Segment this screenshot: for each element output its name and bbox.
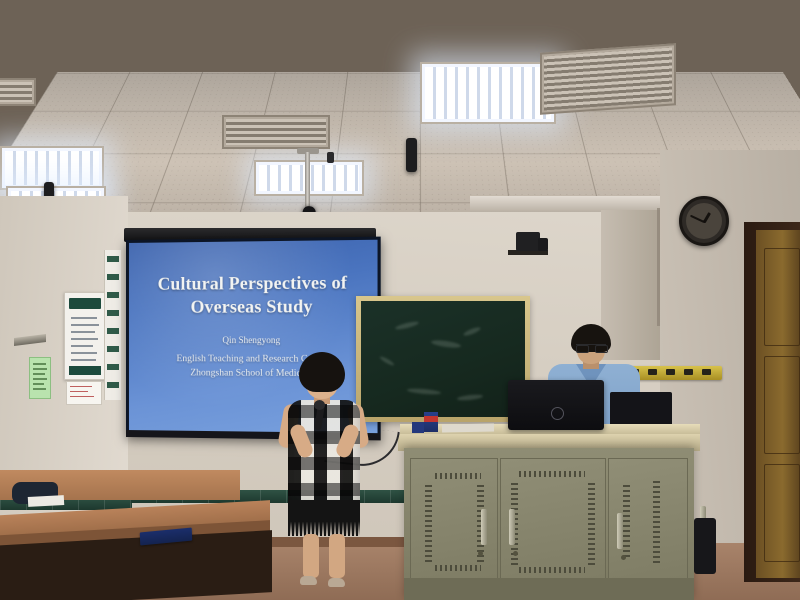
cabinet-door-left[interactable] [410, 458, 498, 586]
cabinet-handle[interactable] [617, 513, 623, 549]
wall-switch-strip [104, 250, 121, 400]
wall-clock [679, 196, 729, 246]
laptop[interactable] [508, 380, 604, 430]
presenter-hair [299, 352, 345, 392]
ceiling-air-vent [540, 43, 676, 115]
ceiling-air-vent [0, 78, 36, 106]
presenter-right-leg [329, 534, 345, 578]
chalkboard-frame [356, 296, 530, 422]
slide-title-line2: Overseas Study [129, 295, 378, 319]
wall-notice-green [29, 357, 51, 399]
chair [694, 518, 716, 574]
presenter-dress-fringe [288, 500, 360, 536]
wall-notice-white [66, 381, 102, 405]
sprinkler-head [327, 152, 334, 163]
presenter-right-shoe [328, 578, 345, 587]
wall-speaker [516, 232, 540, 251]
cabinet-lock[interactable] [478, 551, 483, 556]
projector-mount-pole [305, 152, 310, 214]
loose-papers [28, 495, 64, 507]
chalkboard [361, 301, 525, 417]
notice-board-footer [69, 366, 101, 375]
slide-title: Cultural Perspectives of Overseas Study [129, 271, 378, 319]
desk-box-secondary [412, 422, 424, 433]
desk-box [424, 412, 438, 432]
ceiling-light-fixture [420, 62, 556, 124]
cabinet-door-center[interactable] [500, 458, 606, 586]
lecture-hall-photo: Cultural Perspectives of Overseas Study … [0, 0, 800, 600]
laptop-logo [551, 407, 564, 420]
notice-board [64, 292, 106, 380]
cabinet-lock[interactable] [513, 551, 518, 556]
desk-papers [442, 424, 494, 433]
cabinet-base [404, 578, 694, 600]
slide-author: Qin Shengyong [129, 335, 378, 345]
door-panel [764, 356, 800, 454]
ceiling-speaker [406, 138, 417, 172]
cabinet-handle[interactable] [481, 509, 487, 545]
cabinet-door-right[interactable] [608, 458, 688, 586]
presenter-left-leg [303, 534, 319, 578]
ceiling-air-vent [222, 115, 330, 149]
clock-center-pin [703, 220, 706, 223]
cabinet-handle[interactable] [509, 509, 515, 545]
notice-board-header [69, 298, 101, 309]
secondary-monitor [610, 392, 672, 428]
presenter-left-shoe [300, 576, 317, 585]
slide-title-line1: Cultural Perspectives of [129, 271, 378, 296]
operator-glasses [576, 344, 606, 352]
microphone-head [314, 400, 325, 410]
cabinet-lock[interactable] [621, 555, 626, 560]
door-panel [764, 464, 800, 562]
classroom-door[interactable] [756, 230, 800, 578]
wall-speaker-secondary [538, 238, 548, 251]
door-panel [764, 248, 800, 346]
